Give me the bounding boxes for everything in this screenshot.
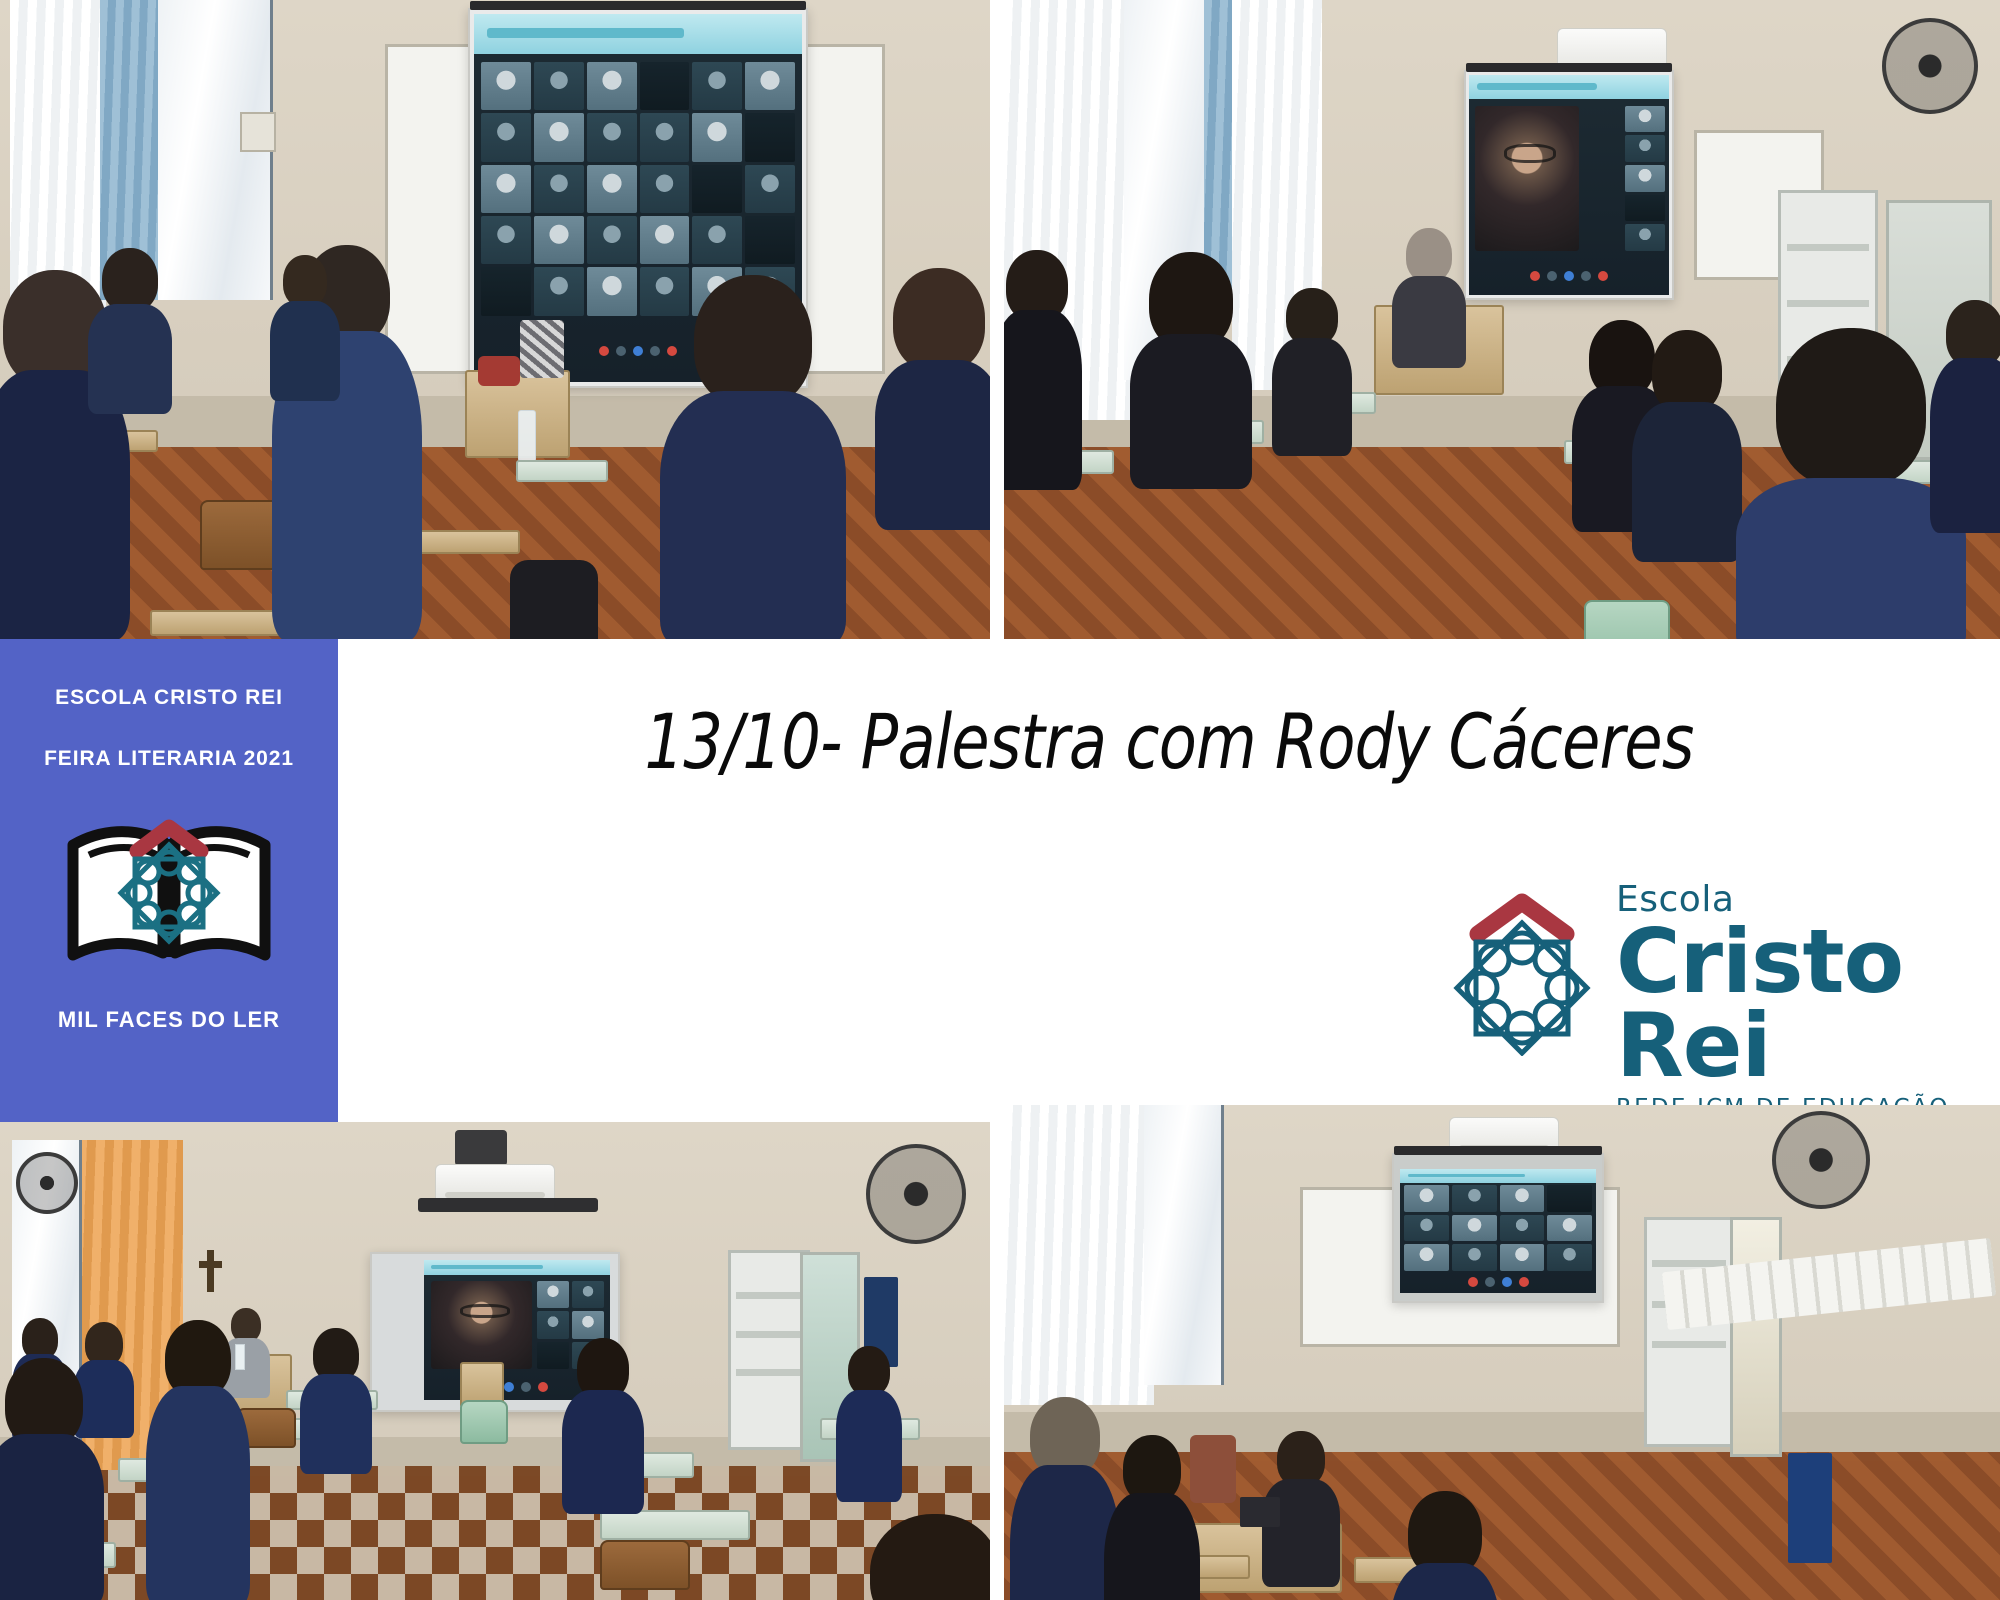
projection-screen	[1464, 70, 1674, 300]
student-person	[300, 1328, 372, 1468]
student-desk	[410, 530, 520, 554]
student-person	[1632, 330, 1742, 550]
window	[1144, 1105, 1224, 1385]
open-book-with-rosette-logo	[59, 797, 279, 985]
student-person	[146, 1320, 250, 1600]
light-fixture	[418, 1198, 598, 1212]
ceiling-projector	[455, 1130, 507, 1166]
chair-back	[600, 1540, 690, 1590]
school-logo: Escola Cristo Rei REDE ICM DE EDUCAÇÃO	[1448, 872, 2000, 1072]
call-controls	[1469, 258, 1669, 295]
browser-chrome	[474, 14, 802, 54]
student-person	[0, 1358, 104, 1600]
window-curtain	[1004, 1105, 1154, 1405]
wall-cabinet	[728, 1250, 810, 1450]
student-person	[1390, 1491, 1500, 1600]
screen-roller	[1466, 63, 1672, 72]
photo-bottom-right	[1004, 1105, 2000, 1600]
browser-chrome	[424, 1260, 610, 1275]
door	[1730, 1217, 1782, 1457]
browser-chrome	[1400, 1169, 1596, 1183]
wall-fan	[866, 1144, 966, 1244]
call-controls	[1400, 1272, 1596, 1293]
cristo-rei-rosette-mark	[1448, 884, 1596, 1056]
backpack	[510, 560, 598, 639]
wall-cabinet	[1644, 1217, 1734, 1447]
student-person	[1104, 1435, 1200, 1600]
school-logo-wordmark: Escola Cristo Rei REDE ICM DE EDUCAÇÃO	[1616, 882, 2000, 1121]
student-person	[1930, 300, 2000, 530]
info-caption: MIL FACES DO LER	[58, 1007, 280, 1033]
speaker-video-tile	[1475, 106, 1579, 251]
photo-top-right	[1004, 0, 2000, 639]
screen-roller	[1394, 1146, 1602, 1155]
wall-banner	[1788, 1453, 1832, 1563]
wall-box	[240, 112, 276, 152]
crucifix	[207, 1250, 214, 1292]
student-person	[1004, 250, 1082, 490]
info-line-school: ESCOLA CRISTO REI	[55, 687, 283, 708]
participant-strip	[1625, 106, 1665, 251]
ceiling-fan	[1882, 18, 1978, 114]
video-call-window	[1469, 75, 1669, 295]
info-panel: ESCOLA CRISTO REI FEIRA LITERARIA 2021	[0, 639, 338, 1123]
student-person	[840, 1514, 990, 1600]
student-person	[836, 1346, 902, 1496]
teacher-person	[1392, 228, 1466, 358]
student-person	[562, 1338, 644, 1508]
student-person	[875, 268, 990, 518]
hand-sanitizer-bottle	[518, 410, 536, 462]
wall-fan	[16, 1152, 78, 1214]
school-logo-cristo-rei: Cristo Rei	[1616, 920, 2000, 1089]
photo-bottom-left	[0, 1122, 990, 1600]
info-line-event: FEIRA LITERARIA 2021	[44, 748, 294, 769]
teacher-person	[270, 255, 340, 395]
participant-grid	[1404, 1185, 1592, 1271]
speaker-video-tile	[431, 1281, 531, 1369]
red-cap	[478, 356, 520, 386]
student-person	[1130, 252, 1252, 482]
headline-band: 13/10- Palestra com Rody Cáceres	[338, 639, 2000, 1122]
laptop	[1240, 1497, 1280, 1527]
student-person	[1272, 288, 1352, 448]
patterned-bag	[520, 320, 564, 378]
student-person	[660, 275, 846, 639]
video-call-window	[1400, 1169, 1596, 1293]
student-person	[88, 248, 172, 408]
chair-back	[1584, 600, 1670, 639]
projection-screen	[1392, 1153, 1604, 1303]
poster-root: ESCOLA CRISTO REI FEIRA LITERARIA 2021	[0, 0, 2000, 1600]
wall-fan	[1772, 1111, 1870, 1209]
student-desk	[600, 1510, 750, 1540]
photo-top-left	[0, 0, 990, 639]
screen-roller	[470, 1, 806, 10]
student-desk	[516, 460, 608, 482]
page-title: 13/10- Palestra com Rody Cáceres	[488, 697, 1851, 786]
chair-back	[460, 1400, 508, 1444]
browser-chrome	[1469, 75, 1669, 99]
